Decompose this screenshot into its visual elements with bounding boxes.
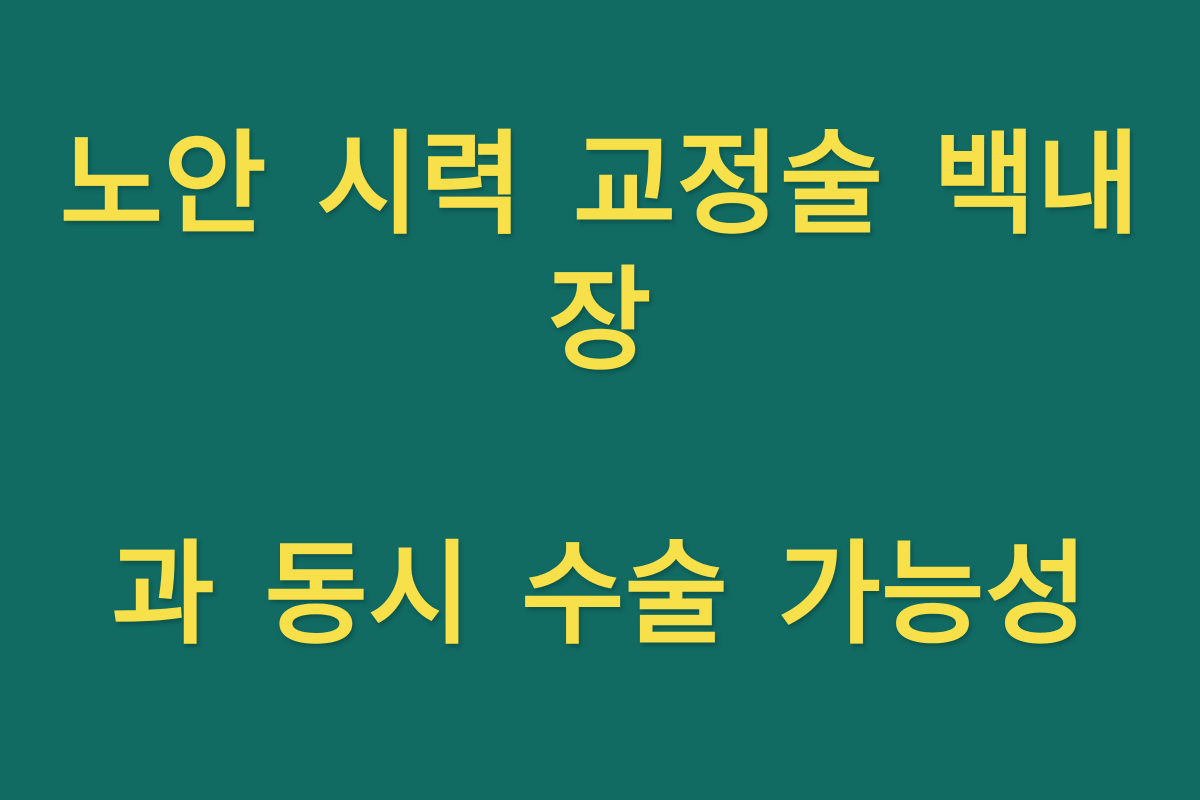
headline: 노안 시력 교정술 백내장 과 동시 수술 가능성	[50, 0, 1150, 800]
headline-line-2: 과 동시 수술 가능성	[50, 527, 1150, 664]
text-banner: 노안 시력 교정술 백내장 과 동시 수술 가능성	[0, 0, 1200, 800]
headline-line-1: 노안 시력 교정술 백내장	[50, 117, 1150, 390]
